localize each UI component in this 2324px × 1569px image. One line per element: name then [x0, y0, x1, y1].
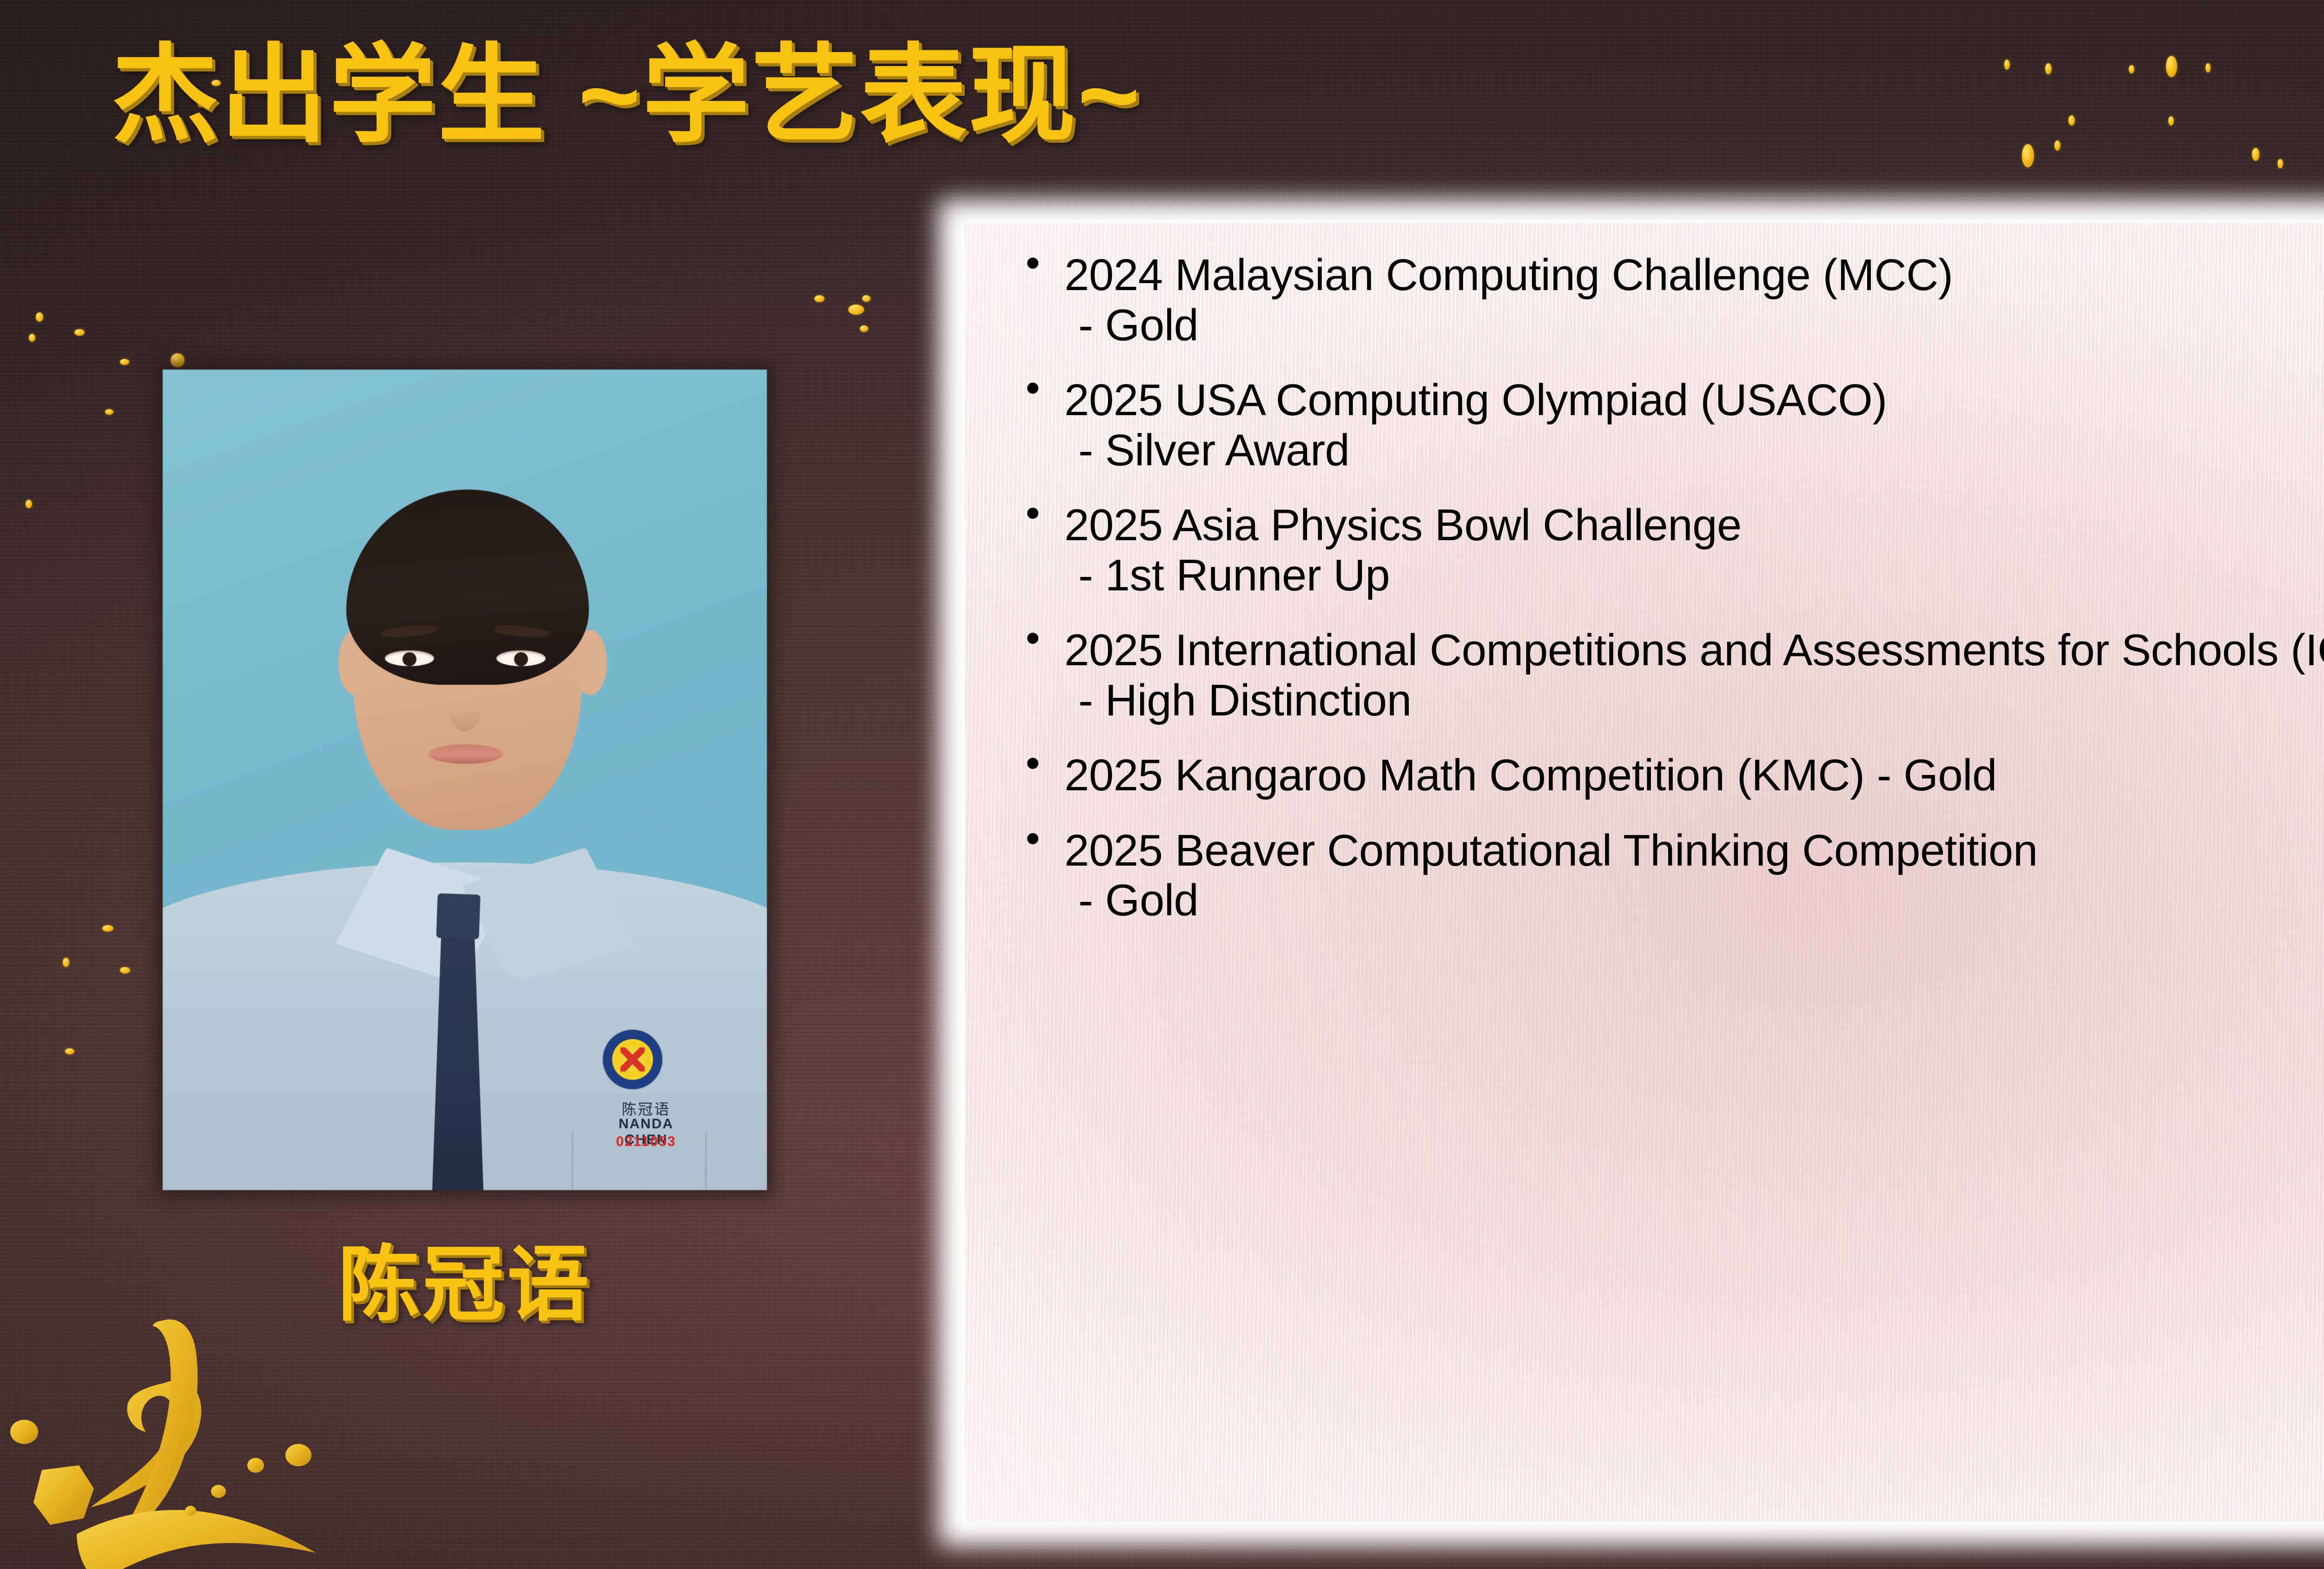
- confetti-dot-icon: [171, 353, 185, 367]
- confetti-dot-icon: [26, 500, 32, 508]
- confetti-dot-icon: [29, 334, 35, 342]
- list-item: 2024 Malaysian Computing Challenge (MCC)…: [1009, 250, 2324, 350]
- bullet-icon: [1027, 383, 1038, 394]
- achievement-award: - 1st Runner Up: [1064, 550, 2324, 601]
- confetti-dot-icon: [862, 295, 871, 302]
- page-title: 杰出学生 ~学艺表现~: [112, 8, 1142, 163]
- confetti-dot-icon: [63, 958, 69, 967]
- confetti-dot-icon: [65, 1048, 74, 1054]
- bullet-icon: [1027, 833, 1038, 844]
- bullet-icon: [1027, 758, 1038, 769]
- confetti-dot-icon: [2129, 65, 2134, 73]
- achievement-title: 2025 International Competitions and Asse…: [1064, 625, 2324, 675]
- confetti-dot-icon: [2166, 56, 2177, 77]
- list-item: 2025 Asia Physics Bowl Challenge- 1st Ru…: [1009, 500, 2324, 600]
- achievement-list: 2024 Malaysian Computing Challenge (MCC)…: [1009, 250, 2324, 926]
- slide-canvas: 杰出学生 ~学艺表现~: [0, 0, 2324, 1569]
- nose: [447, 676, 482, 731]
- school-crest-icon: [603, 1030, 662, 1089]
- confetti-dot-icon: [2045, 63, 2052, 74]
- confetti-dot-icon: [2054, 140, 2060, 151]
- confetti-dot-icon: [2068, 115, 2075, 126]
- achievement-award: - Gold: [1064, 875, 2324, 926]
- necktie-knot: [436, 893, 480, 939]
- confetti-dot-icon: [102, 925, 113, 932]
- achievement-title: 2025 Kangaroo Math Competition (KMC) - G…: [1064, 750, 1997, 800]
- achievements-card: 2024 Malaysian Computing Challenge (MCC)…: [939, 200, 2324, 1546]
- confetti-dot-icon: [120, 359, 129, 365]
- confetti-dot-icon: [814, 295, 825, 302]
- confetti-dot-icon: [2168, 116, 2174, 126]
- list-item: 2025 USA Computing Olympiad (USACO)- Sil…: [1009, 375, 2324, 475]
- achievement-title: 2025 Beaver Computational Thinking Compe…: [1064, 826, 2038, 875]
- confetti-dot-icon: [2022, 144, 2034, 167]
- card-content: 2024 Malaysian Computing Challenge (MCC)…: [939, 200, 2324, 1546]
- bullet-icon: [1027, 258, 1038, 269]
- bullet-icon: [1027, 633, 1038, 644]
- bullet-icon: [1027, 508, 1038, 519]
- confetti-dot-icon: [2278, 159, 2283, 168]
- student-name-caption: 陈冠语: [163, 1218, 767, 1337]
- list-item: 2025 Kangaroo Math Competition (KMC) - G…: [1009, 750, 2324, 801]
- achievement-title: 2025 Asia Physics Bowl Challenge: [1064, 500, 1742, 550]
- achievement-award: - Gold: [1064, 300, 2324, 351]
- mouth: [429, 744, 503, 764]
- uniform-student-id: 0211053: [595, 1134, 697, 1150]
- confetti-dot-icon: [2252, 148, 2259, 161]
- confetti-dot-icon: [105, 409, 113, 415]
- list-item: 2025 International Competitions and Asse…: [1009, 625, 2324, 725]
- confetti-dot-icon: [2205, 63, 2211, 73]
- confetti-dot-icon: [120, 967, 130, 973]
- confetti-dot-icon: [36, 312, 43, 322]
- confetti-dot-icon: [74, 329, 85, 336]
- pupil-left: [403, 652, 416, 666]
- confetti-dot-icon: [848, 305, 864, 315]
- pupil-right: [514, 652, 528, 666]
- achievement-title: 2024 Malaysian Computing Challenge (MCC): [1064, 250, 1953, 300]
- student-photo: 陈冠语 NANDA CHEN 0211053: [163, 370, 767, 1190]
- confetti-dot-icon: [860, 325, 868, 332]
- achievement-title: 2025 USA Computing Olympiad (USACO): [1064, 375, 1887, 425]
- achievement-award: - High Distinction: [1064, 675, 2324, 726]
- achievement-award: - Silver Award: [1064, 425, 2324, 476]
- list-item: 2025 Beaver Computational Thinking Compe…: [1009, 826, 2324, 926]
- confetti-dot-icon: [2004, 60, 2010, 70]
